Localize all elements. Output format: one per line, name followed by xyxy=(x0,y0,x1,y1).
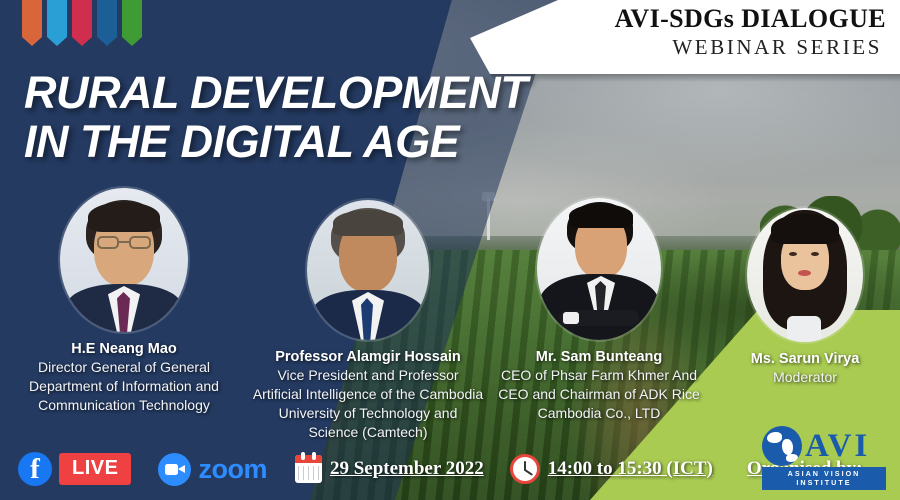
calendar-grid xyxy=(298,466,319,480)
series-subtitle: WEBINAR SERIES xyxy=(470,34,886,60)
zoom-wordmark: zoom xyxy=(198,454,267,485)
portrait-alamgir-hossain xyxy=(307,200,429,340)
sdg-bar-lightblue xyxy=(47,0,67,37)
sdg-bar-red xyxy=(72,0,92,37)
speaker-role: Moderator xyxy=(710,368,900,387)
event-date: 29 September 2022 xyxy=(330,458,484,480)
facebook-icon[interactable]: f xyxy=(18,452,52,486)
poster-title-line2: IN THE DIGITAL AGE xyxy=(24,117,664,166)
globe-landmass-1 xyxy=(767,432,782,443)
clock-hand-minute xyxy=(524,469,533,476)
zoom-logo[interactable]: zoom xyxy=(158,453,267,486)
speaker-role: CEO of Phsar Farm Khmer And CEO and Chai… xyxy=(488,366,710,423)
clock-icon xyxy=(510,454,540,484)
globe-landmass-2 xyxy=(782,439,793,455)
speakers-row: H.E Neang Mao Director General of Genera… xyxy=(0,188,900,428)
sdg-bar-green xyxy=(122,0,142,37)
avatar xyxy=(60,188,188,332)
speaker-role: Vice President and Professor Artificial … xyxy=(248,366,488,442)
live-badge: LIVE xyxy=(59,453,131,485)
series-banner: AVI-SDGs DIALOGUE WEBINAR SERIES xyxy=(470,0,900,74)
speaker-name: H.E Neang Mao xyxy=(0,341,248,357)
sdg-bars-logo xyxy=(22,0,142,37)
sdg-bar-orange xyxy=(22,0,42,37)
calendar-peg-left xyxy=(301,452,305,460)
avatar xyxy=(747,208,863,342)
avatar xyxy=(537,198,661,340)
calendar-icon xyxy=(295,455,322,483)
speaker-card: H.E Neang Mao Director General of Genera… xyxy=(0,188,248,415)
speaker-name: Professor Alamgir Hossain xyxy=(248,349,488,365)
speaker-name: Ms. Sarun Virya xyxy=(710,351,900,367)
globe-landmass-3 xyxy=(786,454,798,462)
speaker-role: Director General of General Department o… xyxy=(0,358,248,415)
speaker-card: Mr. Sam Bunteang CEO of Phsar Farm Khmer… xyxy=(488,188,710,423)
event-time: 14:00 to 15:30 (ICT) xyxy=(548,458,713,480)
zoom-camera-icon xyxy=(158,453,191,486)
poster-title: RURAL DEVELOPMENT IN THE DIGITAL AGE xyxy=(24,68,664,166)
poster-title-line1: RURAL DEVELOPMENT xyxy=(24,68,664,117)
avatar xyxy=(307,200,429,340)
camera-glyph xyxy=(165,464,178,475)
calendar-peg-right xyxy=(312,452,316,460)
speaker-name: Mr. Sam Bunteang xyxy=(488,349,710,365)
avi-tagline: ASIAN VISION INSTITUTE xyxy=(762,467,886,491)
globe-icon xyxy=(762,426,802,466)
speaker-card: Ms. Sarun Virya Moderator xyxy=(710,188,900,387)
portrait-sam-bunteang xyxy=(537,198,661,340)
webinar-poster: AVI-SDGs DIALOGUE WEBINAR SERIES RURAL D… xyxy=(0,0,900,500)
facebook-glyph: f xyxy=(18,451,52,487)
speaker-card: Professor Alamgir Hossain Vice President… xyxy=(248,188,488,442)
avi-wordmark: AVI xyxy=(805,429,870,463)
avi-logo-top: AVI xyxy=(762,426,886,466)
avi-logo[interactable]: AVI ASIAN VISION INSTITUTE xyxy=(762,426,886,491)
portrait-sarun-virya xyxy=(747,208,863,342)
sdg-bar-darkblue xyxy=(97,0,117,37)
portrait-neang-mao xyxy=(60,188,188,332)
